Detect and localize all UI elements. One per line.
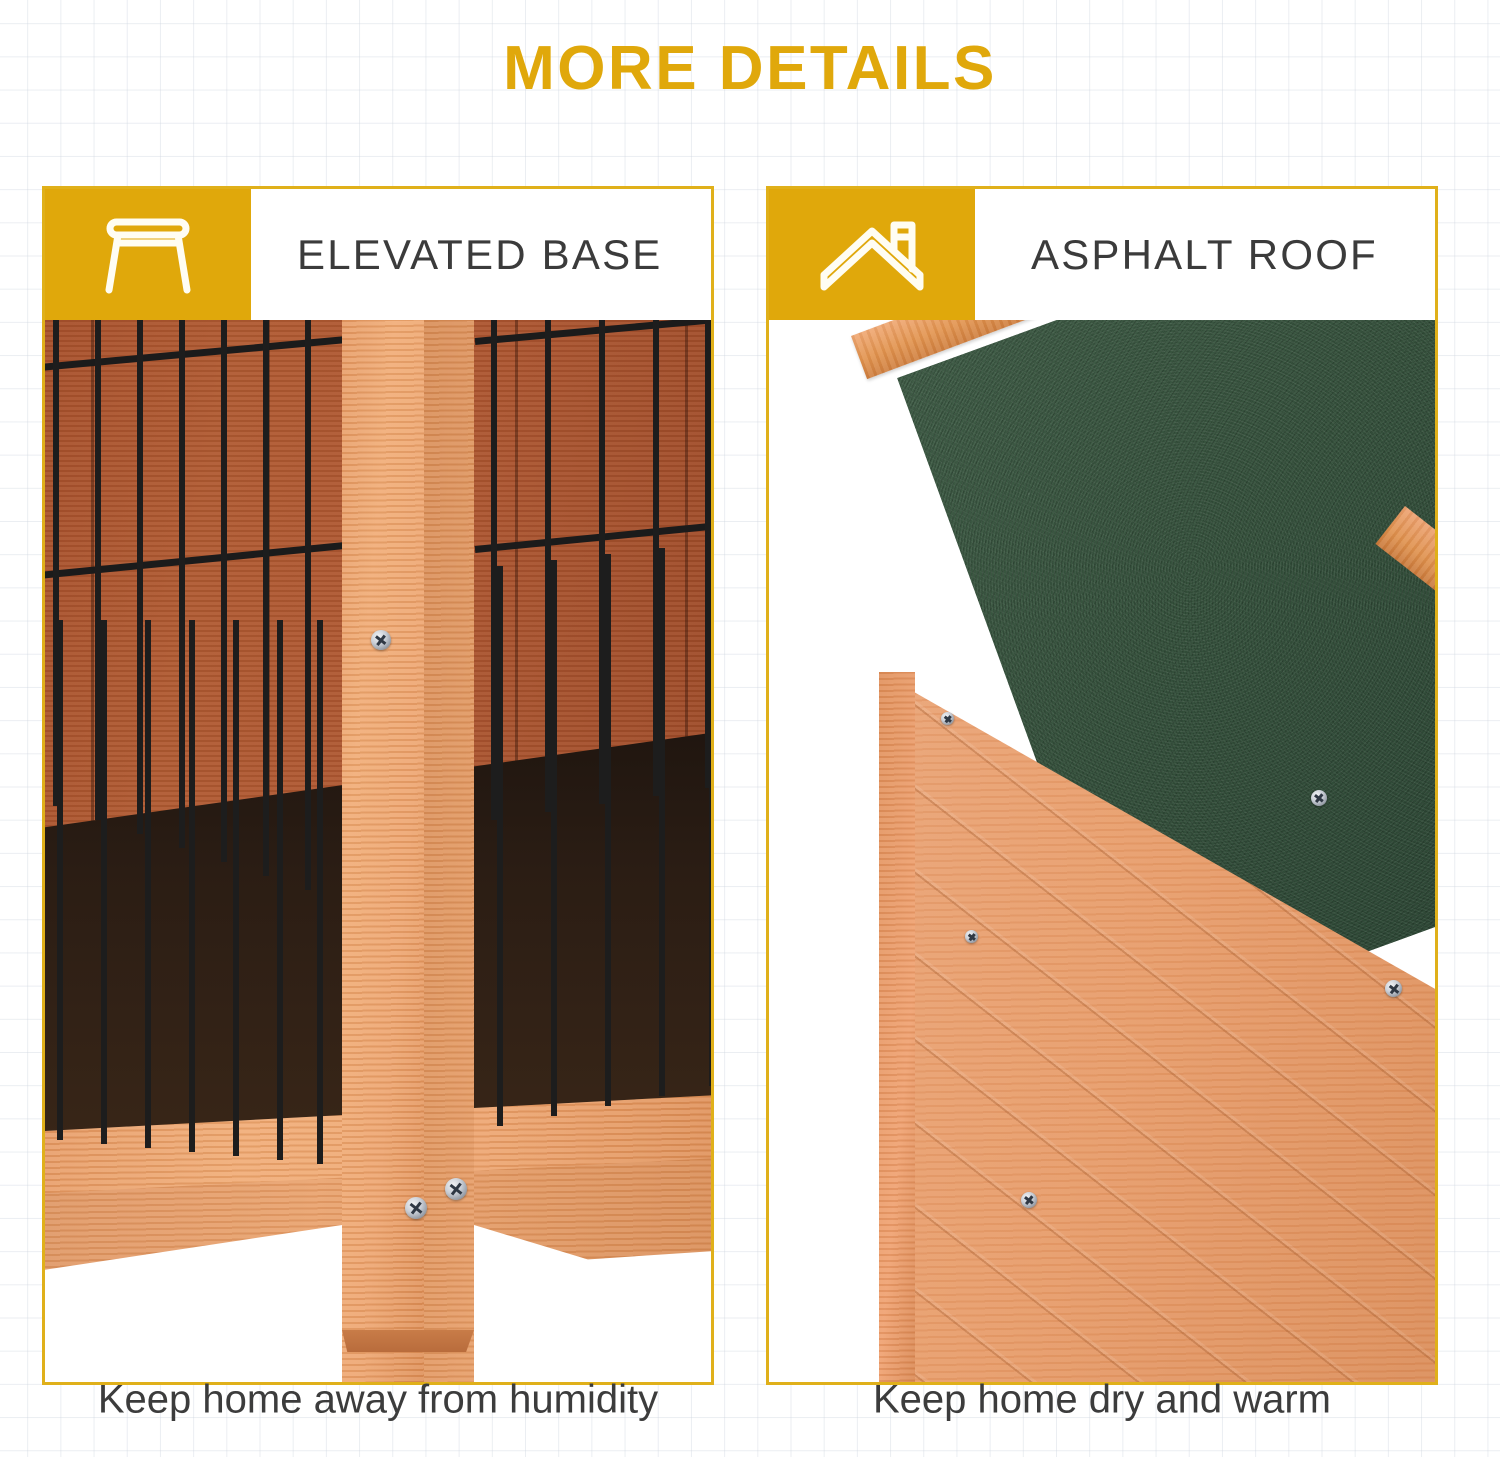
asphalt-roof-photo bbox=[769, 320, 1435, 1382]
post-front-face bbox=[342, 320, 424, 1382]
panel-inner: ELEVATED BASE bbox=[45, 189, 711, 1382]
screw-icon bbox=[371, 630, 391, 650]
roof-chimney-icon bbox=[769, 189, 975, 320]
caption-asphalt-roof: Keep home dry and warm bbox=[766, 1378, 1438, 1423]
wire-vertical-lower bbox=[497, 566, 503, 1126]
photo-stage bbox=[769, 320, 1435, 1382]
wire-vertical-lower bbox=[101, 620, 107, 1144]
screw-icon bbox=[1021, 1192, 1037, 1208]
page-title: MORE DETAILS bbox=[0, 38, 1500, 100]
wire-vertical-lower bbox=[605, 554, 611, 1106]
screw-icon bbox=[941, 712, 954, 725]
screw-icon bbox=[445, 1178, 467, 1200]
wire-vertical-lower bbox=[189, 620, 195, 1152]
panel-header-elevated-base: ELEVATED BASE bbox=[45, 189, 711, 320]
wire-vertical bbox=[179, 320, 185, 848]
wire-vertical bbox=[221, 320, 227, 862]
product-detail-page: MORE DETAILS bbox=[0, 0, 1500, 1457]
wire-vertical-lower bbox=[709, 542, 711, 1086]
panel-title: ASPHALT ROOF bbox=[975, 189, 1435, 320]
wire-vertical-lower bbox=[317, 620, 323, 1164]
elevated-base-photo bbox=[45, 320, 711, 1382]
wall-corner-stile bbox=[879, 672, 915, 1382]
wire-vertical-lower bbox=[145, 620, 151, 1148]
wire-vertical-lower bbox=[659, 548, 665, 1096]
screw-icon bbox=[965, 930, 978, 943]
feature-panel-elevated-base: ELEVATED BASE bbox=[42, 186, 714, 1385]
wire-vertical-lower bbox=[551, 560, 557, 1116]
screw-icon bbox=[1385, 980, 1402, 997]
screw-icon bbox=[405, 1197, 427, 1219]
wire-vertical-lower bbox=[233, 620, 239, 1156]
caption-elevated-base: Keep home away from humidity bbox=[42, 1378, 714, 1423]
panel-header-asphalt-roof: ASPHALT ROOF bbox=[769, 189, 1435, 320]
panel-inner: ASPHALT ROOF bbox=[769, 189, 1435, 1382]
panel-title: ELEVATED BASE bbox=[251, 189, 711, 320]
wire-vertical bbox=[305, 320, 311, 890]
wire-vertical-lower bbox=[57, 620, 63, 1140]
leg-foot bbox=[342, 1330, 474, 1352]
wire-vertical-lower bbox=[277, 620, 283, 1160]
screw-icon bbox=[1311, 790, 1327, 806]
post-side-face bbox=[424, 320, 474, 1382]
wire-vertical bbox=[137, 320, 143, 834]
wire-vertical bbox=[263, 320, 269, 876]
feature-panel-asphalt-roof: ASPHALT ROOF bbox=[766, 186, 1438, 1385]
table-legs-icon bbox=[45, 189, 251, 320]
hutch-corner-post bbox=[342, 320, 474, 1382]
